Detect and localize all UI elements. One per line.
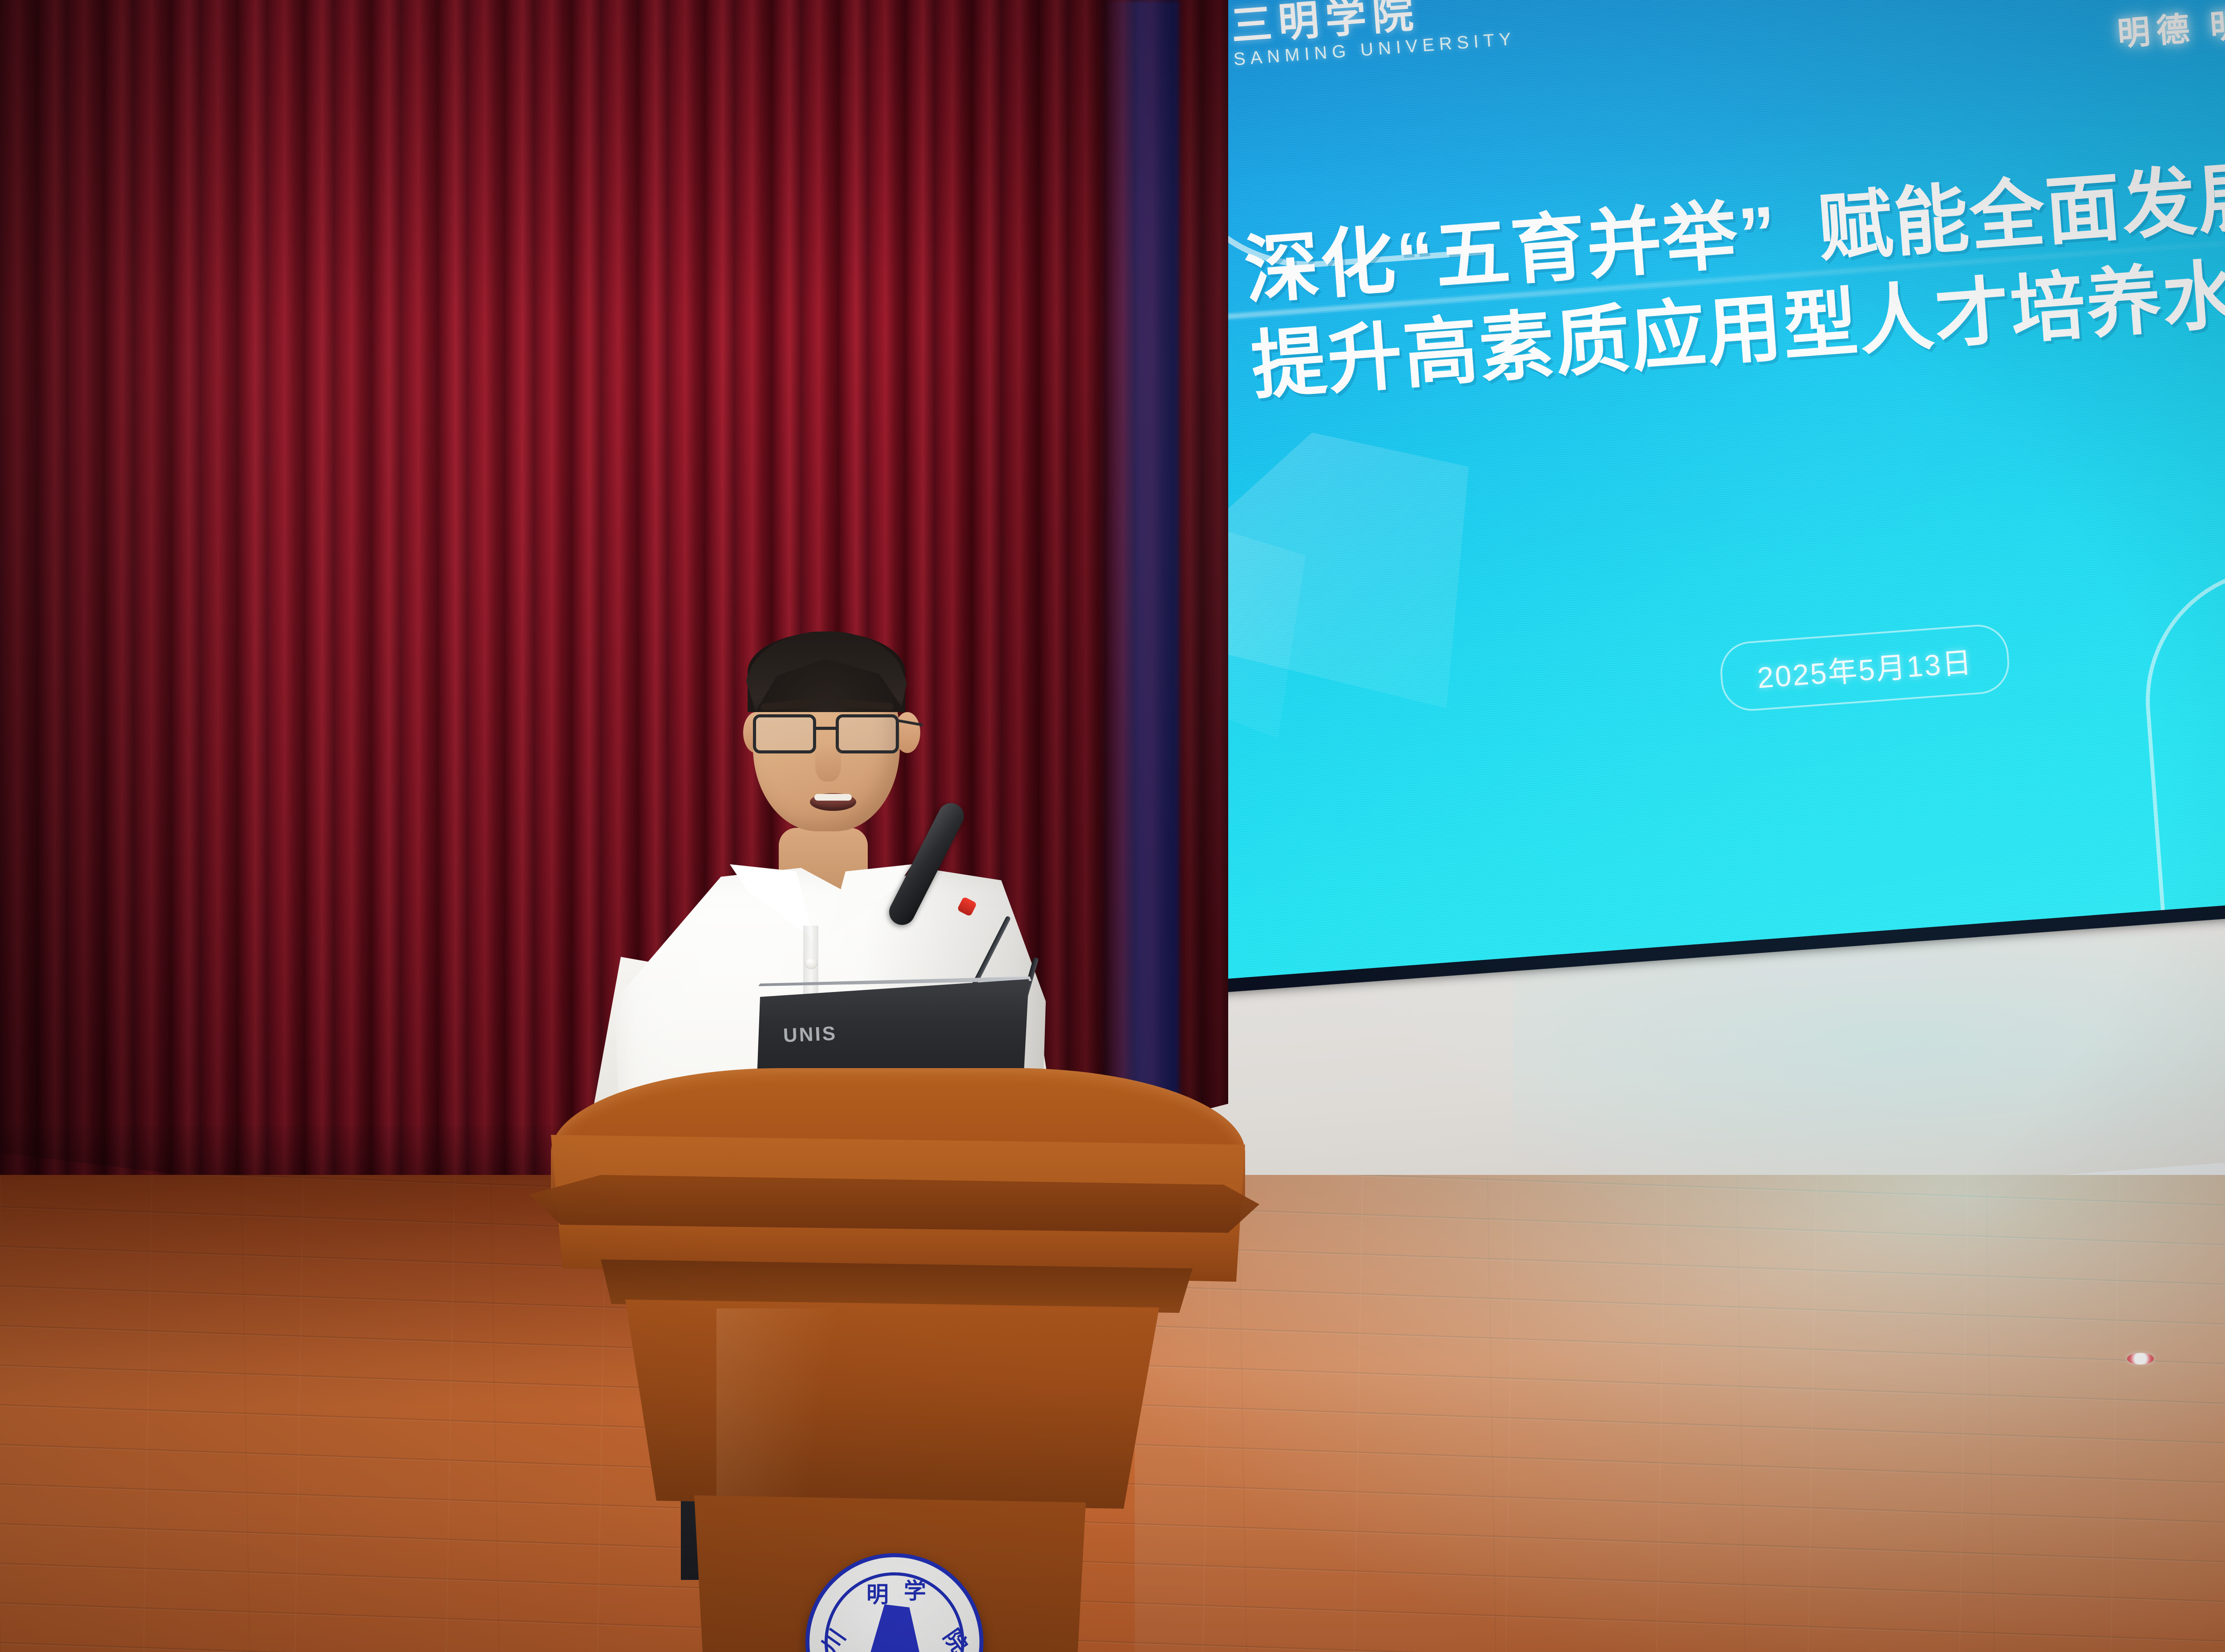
pagoda-mark-icon — [863, 1604, 926, 1652]
slide-date-badge: 2025年5月13日 — [1718, 623, 2011, 713]
seal-char-1: 明 — [866, 1577, 889, 1609]
wall-light-glow — [1513, 935, 2225, 1211]
podium-sheen — [716, 1308, 859, 1504]
seal-char-2: 学 — [904, 1573, 926, 1605]
curtain-blue-edge-light — [1099, 0, 1179, 1139]
podium-ledge — [530, 1175, 1259, 1233]
glasses-bridge — [815, 727, 837, 730]
shirt-button-1 — [805, 957, 817, 968]
slide-content: 三明学院 SANMING UNIVERSITY 明德 明理 明志 深化“五育并举… — [1096, 0, 2225, 983]
floor-screen-light-spill — [1135, 1175, 2225, 1652]
speaker-teeth — [814, 794, 852, 801]
university-motto: 明德 明理 明志 — [2116, 0, 2225, 55]
floor-marker-sticker-1 — [2127, 1353, 2154, 1365]
glasses-lens-left — [753, 714, 816, 753]
podium: 明 学 院 川 SANMING UNIVERSITY — [530, 1068, 1259, 1652]
speaker-nose — [815, 743, 841, 781]
auditorium-scene: 三明学院 SANMING UNIVERSITY 明德 明理 明志 深化“五育并举… — [0, 0, 2225, 1652]
university-name-block: 三明学院 SANMING UNIVERSITY — [1230, 0, 1516, 69]
laptop-brand-label: UNIS — [783, 1022, 837, 1047]
glasses-lens-right — [836, 714, 899, 753]
seal-char-4: 川 — [813, 1622, 852, 1652]
podium-mid-body — [625, 1300, 1159, 1509]
seal-char-3: 院 — [937, 1622, 976, 1652]
led-screen[interactable]: 三明学院 SANMING UNIVERSITY 明德 明理 明志 深化“五育并举… — [1088, 0, 2225, 997]
